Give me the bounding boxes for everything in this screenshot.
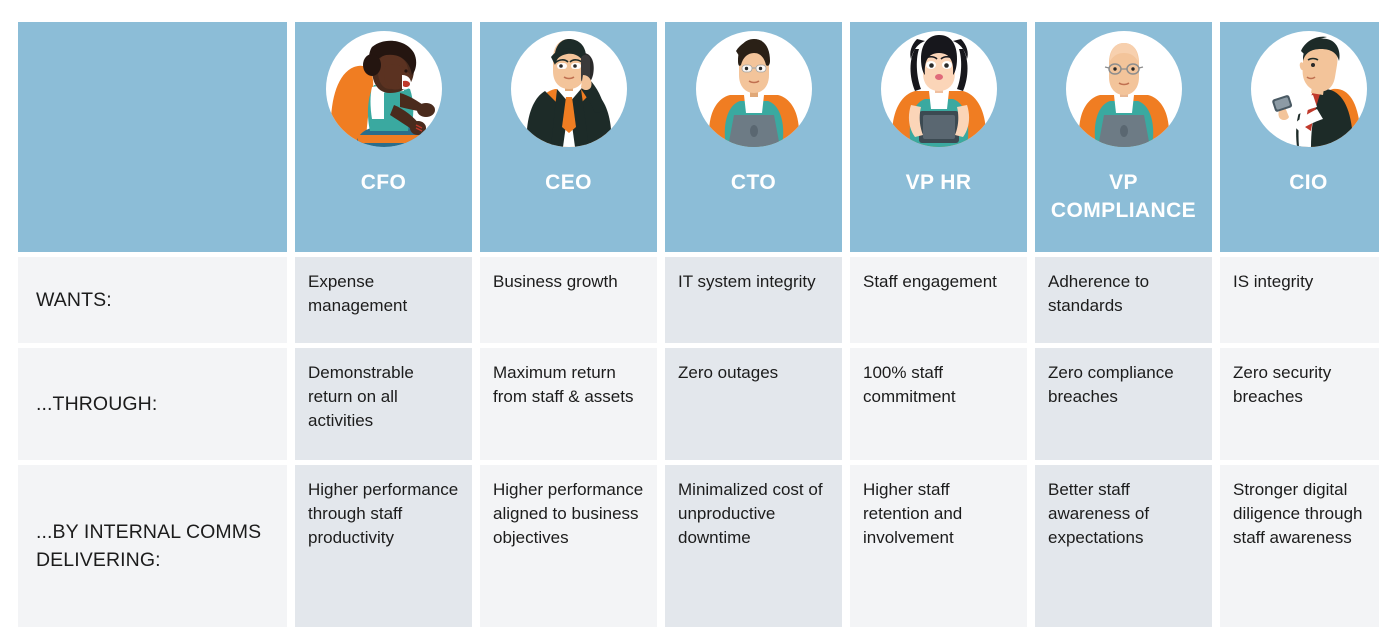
cell-delivering-vp-hr: Higher staff retention and involvement — [850, 465, 1027, 627]
cell-wants-ceo: Business growth — [480, 257, 657, 343]
avatar-cto-man-with-laptop — [696, 31, 812, 147]
header-label-cio: CIO — [1220, 169, 1379, 197]
cell-delivering-cto: Minimalized cost of unproductive downtim… — [665, 465, 842, 627]
cell-delivering-cfo: Higher performance through staff product… — [295, 465, 472, 627]
header-cell-vp-hr: VP HR — [850, 22, 1027, 252]
cell-through-cio: Zero security breaches — [1220, 348, 1379, 460]
avatar-vp-hr-woman-with-tablet — [881, 31, 997, 147]
cell-wants-cfo: Expense management — [295, 257, 472, 343]
cell-wants-vp-hr: Staff engagement — [850, 257, 1027, 343]
header-label-cto: CTO — [665, 169, 842, 197]
cell-wants-cto: IT system integrity — [665, 257, 842, 343]
cell-wants-vp-compliance: Adherence to standards — [1035, 257, 1212, 343]
header-cell-vp-compliance: VPCOMPLIANCE — [1035, 22, 1212, 252]
row-label-by-internal-comms-delivering: ...BY INTERNAL COMMS DELIVERING: — [18, 465, 287, 627]
header-cell-cio: CIO — [1220, 22, 1379, 252]
row-label-through-text: ...THROUGH: — [36, 390, 157, 418]
row-label-by-internal-comms-delivering-text: ...BY INTERNAL COMMS DELIVERING: — [36, 518, 277, 575]
avatar-vp-compliance-bald-man-with-laptop — [1066, 31, 1182, 147]
cell-wants-cio: IS integrity — [1220, 257, 1379, 343]
cell-through-vp-hr: 100% staff commitment — [850, 348, 1027, 460]
header-cell-cto: CTO — [665, 22, 842, 252]
avatar-cfo-woman-presenting — [326, 31, 442, 147]
header-cell-cfo: CFO — [295, 22, 472, 252]
cell-through-vp-compliance: Zero compliance breaches — [1035, 348, 1212, 460]
header-label-vp-hr: VP HR — [850, 169, 1027, 197]
header-cell-ceo: CEO — [480, 22, 657, 252]
header-corner-blank — [18, 22, 287, 252]
cell-through-cfo: Demonstrable return on all activities — [295, 348, 472, 460]
row-label-wants: WANTS: — [18, 257, 287, 343]
stakeholder-matrix: CFO — [18, 22, 1359, 614]
cell-delivering-ceo: Higher performance aligned to business o… — [480, 465, 657, 627]
cell-delivering-vp-compliance: Better staff awareness of expectations — [1035, 465, 1212, 627]
header-label-ceo: CEO — [480, 169, 657, 197]
header-label-vp-compliance: VPCOMPLIANCE — [1035, 169, 1212, 224]
avatar-cio-man-with-phone — [1251, 31, 1367, 147]
cell-through-cto: Zero outages — [665, 348, 842, 460]
header-label-cfo: CFO — [295, 169, 472, 197]
cell-delivering-cio: Stronger digital diligence through staff… — [1220, 465, 1379, 627]
row-label-through: ...THROUGH: — [18, 348, 287, 460]
cell-through-ceo: Maximum return from staff & assets — [480, 348, 657, 460]
row-label-wants-text: WANTS: — [36, 286, 112, 314]
avatar-ceo-man-on-phone — [511, 31, 627, 147]
